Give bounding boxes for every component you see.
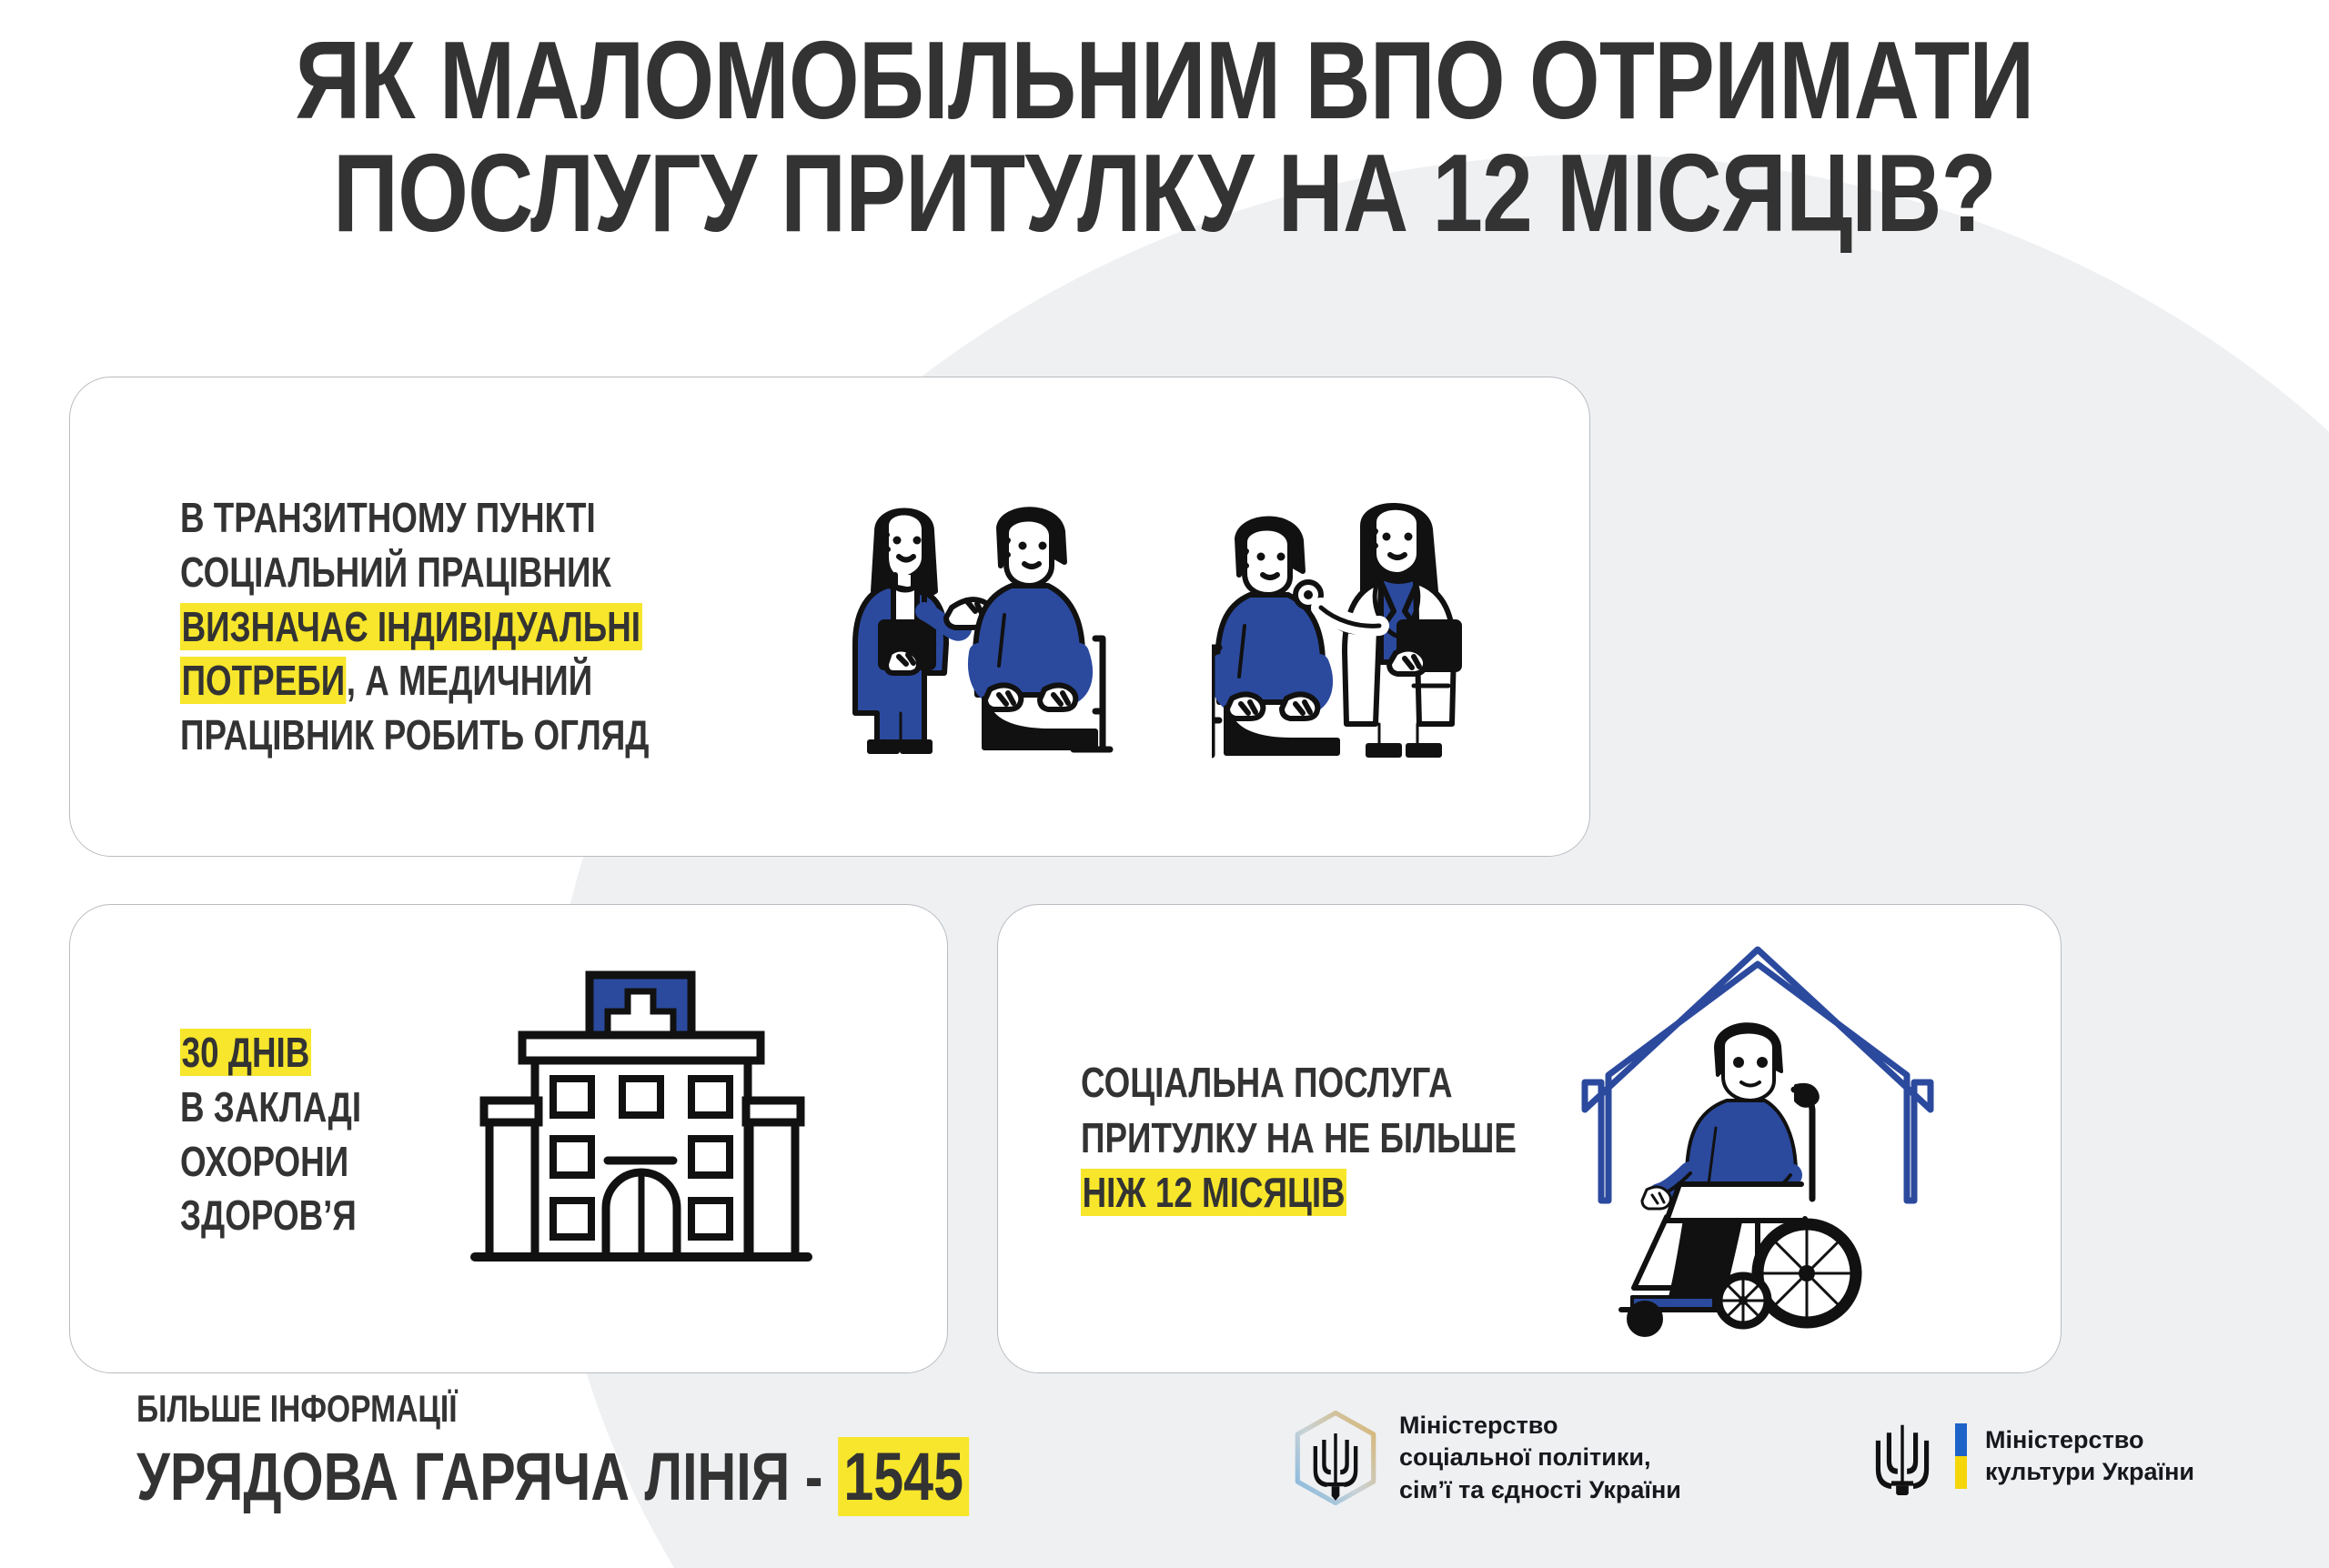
social-worker-consultation-illustration (830, 484, 1139, 766)
hospital-building-illustration (462, 957, 826, 1302)
doctor-examination-illustration (1212, 484, 1521, 766)
logo-text-line-2: культури України (1985, 1456, 2194, 1488)
footer-contact-info: БІЛЬШЕ ІНФОРМАЦІЇ УРЯДОВА ГАРЯЧА ЛІНІЯ -… (136, 1386, 1177, 1516)
text-line: ПРИТУЛКУ НА НЕ БІЛЬШЕ (1081, 1111, 1517, 1166)
text-plain: ЗДОРОВ’Я (180, 1191, 357, 1239)
logo-social-policy-text: Міністерство соціальної політики, сім’ї … (1399, 1410, 1681, 1505)
text-line: 30 ДНІВ (180, 1026, 361, 1081)
text-plain: ПРИТУЛКУ НА НЕ БІЛЬШЕ (1081, 1114, 1517, 1161)
logo-text-line-1: Міністерство (1985, 1424, 2194, 1456)
text-line: ОХОРОНИ (180, 1135, 361, 1190)
hexagon-trident-icon (1292, 1410, 1379, 1506)
page-title: ЯК МАЛОМОБІЛЬНИМ ВПО ОТРИМАТИ ПОСЛУГУ ПР… (0, 24, 2329, 250)
card-shelter-service-text: СОЦІАЛЬНА ПОСЛУГА ПРИТУЛКУ НА НЕ БІЛЬШЕ … (1081, 1055, 1626, 1221)
hotline-line: УРЯДОВА ГАРЯЧА ЛІНІЯ - 1545 (136, 1437, 969, 1516)
text-line: СОЦІАЛЬНА ПОСЛУГА (1081, 1055, 1517, 1111)
card-transit-point-text: В ТРАНЗИТНОМУ ПУНКТІ СОЦІАЛЬНИЙ ПРАЦІВНИ… (180, 491, 766, 763)
text-line: НІЖ 12 МІСЯЦІВ (1081, 1165, 1517, 1221)
text-line: В ЗАКЛАДІ (180, 1081, 361, 1135)
text-plain: ПРАЦІВНИК РОБИТЬ ОГЛЯД (180, 711, 650, 759)
text-highlight: ВИЗНАЧАЄ ІНДИВІДУАЛЬНІ (180, 603, 642, 650)
card-health-facility-text: 30 ДНІВ В ЗАКЛАДІ ОХОРОНИ ЗДОРОВ’Я (180, 1026, 407, 1243)
text-line: ПРАЦІВНИК РОБИТЬ ОГЛЯД (180, 709, 650, 763)
hotline-number[interactable]: 1545 (838, 1437, 970, 1516)
hotline-label: УРЯДОВА ГАРЯЧА ЛІНІЯ - (136, 1439, 838, 1514)
trident-icon (1314, 1433, 1358, 1501)
title-line-2: ПОСЛУГУ ПРИТУЛКУ НА 12 МІСЯЦІВ? (209, 136, 2119, 249)
text-highlight: ПОТРЕБИ (180, 657, 347, 704)
logo-ministry-culture[interactable]: Міністерство культури України (1870, 1417, 2194, 1495)
logo-culture-text: Міністерство культури України (1985, 1424, 2194, 1488)
text-highlight: 30 ДНІВ (180, 1029, 311, 1076)
title-line-1: ЯК МАЛОМОБІЛЬНИМ ВПО ОТРИМАТИ (209, 24, 2119, 136)
text-plain: , А МЕДИЧНИЙ (347, 657, 592, 704)
text-line: ПОТРЕБИ, А МЕДИЧНИЙ (180, 654, 650, 709)
logo-text-line-3: сім’ї та єдності України (1399, 1474, 1681, 1506)
logo-text-line-1: Міністерство (1399, 1410, 1681, 1442)
text-plain: СОЦІАЛЬНИЙ ПРАЦІВНИК (180, 548, 611, 596)
ukraine-flag-bar-icon (1955, 1423, 1967, 1489)
more-info-label: БІЛЬШЕ ІНФОРМАЦІЇ (136, 1386, 969, 1432)
footer: БІЛЬШЕ ІНФОРМАЦІЇ УРЯДОВА ГАРЯЧА ЛІНІЯ -… (0, 1373, 2329, 1568)
infographic-root: ЯК МАЛОМОБІЛЬНИМ ВПО ОТРИМАТИ ПОСЛУГУ ПР… (0, 0, 2329, 1568)
text-line: СОЦІАЛЬНИЙ ПРАЦІВНИК (180, 546, 650, 600)
logo-ministry-social-policy[interactable]: Міністерство соціальної політики, сім’ї … (1292, 1410, 1681, 1506)
logo-text-line-2: соціальної політики, (1399, 1442, 1681, 1473)
trident-icon (1870, 1417, 1935, 1495)
text-plain: ОХОРОНИ (180, 1138, 348, 1185)
text-line: В ТРАНЗИТНОМУ ПУНКТІ (180, 491, 650, 546)
text-plain: В ТРАНЗИТНОМУ ПУНКТІ (180, 494, 596, 541)
text-plain: СОЦІАЛЬНА ПОСЛУГА (1081, 1059, 1453, 1106)
text-plain: В ЗАКЛАДІ (180, 1083, 361, 1131)
text-line: ЗДОРОВ’Я (180, 1189, 361, 1243)
wheelchair-user-under-house-illustration (1579, 911, 1998, 1339)
text-highlight: НІЖ 12 МІСЯЦІВ (1081, 1169, 1346, 1216)
text-line: ВИЗНАЧАЄ ІНДИВІДУАЛЬНІ (180, 600, 650, 655)
